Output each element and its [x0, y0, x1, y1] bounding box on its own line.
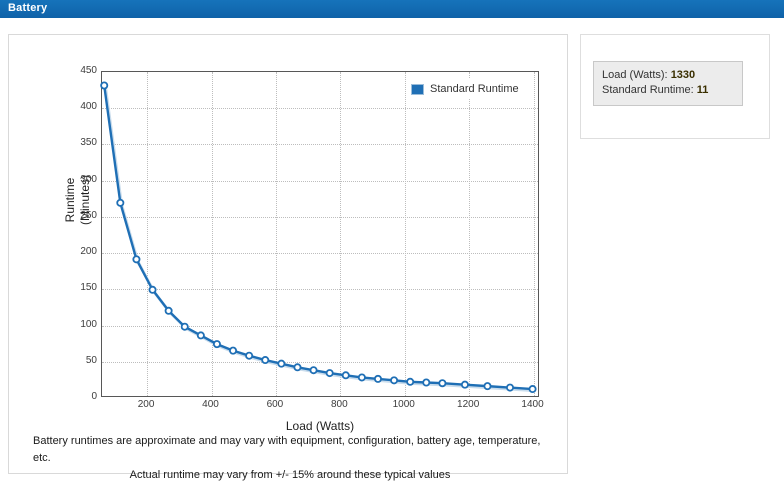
y-tick-label: 300 [67, 174, 97, 185]
x-tick-label: 400 [202, 399, 219, 410]
data-point-marker[interactable] [149, 287, 155, 293]
tooltip-row: Standard Runtime: 11 [602, 83, 734, 98]
y-tick-label: 250 [67, 210, 97, 221]
data-point-marker[interactable] [117, 200, 123, 206]
x-tick-label: 1000 [393, 399, 415, 410]
x-axis-ticks: 200400600800100012001400 [101, 399, 539, 415]
y-tick-label: 0 [67, 391, 97, 402]
y-tick-label: 350 [67, 137, 97, 148]
data-point-marker[interactable] [529, 386, 535, 392]
data-point-marker[interactable] [439, 380, 445, 386]
y-tick-label: 400 [67, 101, 97, 112]
data-point-marker[interactable] [182, 324, 188, 330]
chart-panel: Runtime (Minutes) 0501001502002503003504… [8, 34, 568, 474]
data-point-marker[interactable] [278, 361, 284, 367]
y-tick-label: 150 [67, 282, 97, 293]
panel-header-bar: Battery [0, 0, 784, 18]
data-point-marker[interactable] [343, 372, 349, 378]
y-axis-ticks: 050100150200250300350400450 [65, 71, 97, 397]
tooltip-value-runtime: 11 [697, 84, 709, 96]
tooltip-key-runtime: Standard Runtime: [602, 84, 694, 96]
legend-swatch-icon [411, 84, 424, 95]
data-point-marker[interactable] [133, 256, 139, 262]
data-point-marker[interactable] [310, 367, 316, 373]
y-tick-label: 200 [67, 246, 97, 257]
y-tick-label: 50 [67, 355, 97, 366]
info-panel: Load (Watts): 1330 Standard Runtime: 11 [580, 34, 770, 139]
data-point-marker[interactable] [246, 353, 252, 359]
page-body: Runtime (Minutes) 0501001502002503003504… [0, 18, 784, 481]
data-point-marker[interactable] [462, 382, 468, 388]
x-axis-label: Load (Watts) [101, 419, 539, 433]
footer-notes: Battery runtimes are approximate and may… [23, 433, 557, 484]
series-line-shadow [105, 87, 533, 391]
x-tick-label: 800 [331, 399, 348, 410]
plot-wrapper: Runtime (Minutes) 0501001502002503003504… [9, 35, 567, 473]
x-tick-label: 600 [267, 399, 284, 410]
data-point-marker[interactable] [262, 357, 268, 363]
y-tick-label: 100 [67, 319, 97, 330]
data-point-marker[interactable] [166, 308, 172, 314]
data-point-marker[interactable] [507, 384, 513, 390]
data-point-marker[interactable] [375, 376, 381, 382]
data-point-marker[interactable] [423, 379, 429, 385]
tooltip-value-load: 1330 [671, 69, 695, 81]
data-point-marker[interactable] [198, 332, 204, 338]
data-point-marker[interactable] [407, 379, 413, 385]
legend-item-label: Standard Runtime [430, 83, 519, 95]
x-tick-label: 1400 [521, 399, 543, 410]
data-point-marker[interactable] [359, 374, 365, 380]
footer-note-line-1: Battery runtimes are approximate and may… [23, 433, 557, 467]
datapoint-tooltip: Load (Watts): 1330 Standard Runtime: 11 [593, 61, 743, 106]
data-point-marker[interactable] [327, 370, 333, 376]
series-standard-runtime [101, 71, 539, 397]
chart-legend: Standard Runtime [407, 79, 523, 99]
data-point-marker[interactable] [294, 364, 300, 370]
tooltip-row: Load (Watts): 1330 [602, 68, 734, 83]
data-point-marker[interactable] [230, 348, 236, 354]
series-line [104, 85, 532, 389]
x-tick-label: 200 [138, 399, 155, 410]
data-point-marker[interactable] [101, 82, 107, 88]
footer-note-line-2: Actual runtime may vary from +/- 15% aro… [23, 467, 557, 484]
y-tick-label: 450 [67, 65, 97, 76]
tooltip-key-load: Load (Watts): [602, 69, 668, 81]
x-tick-label: 1200 [457, 399, 479, 410]
data-point-marker[interactable] [214, 341, 220, 347]
page-title: Battery [8, 2, 47, 14]
data-point-marker[interactable] [484, 383, 490, 389]
data-point-marker[interactable] [391, 377, 397, 383]
